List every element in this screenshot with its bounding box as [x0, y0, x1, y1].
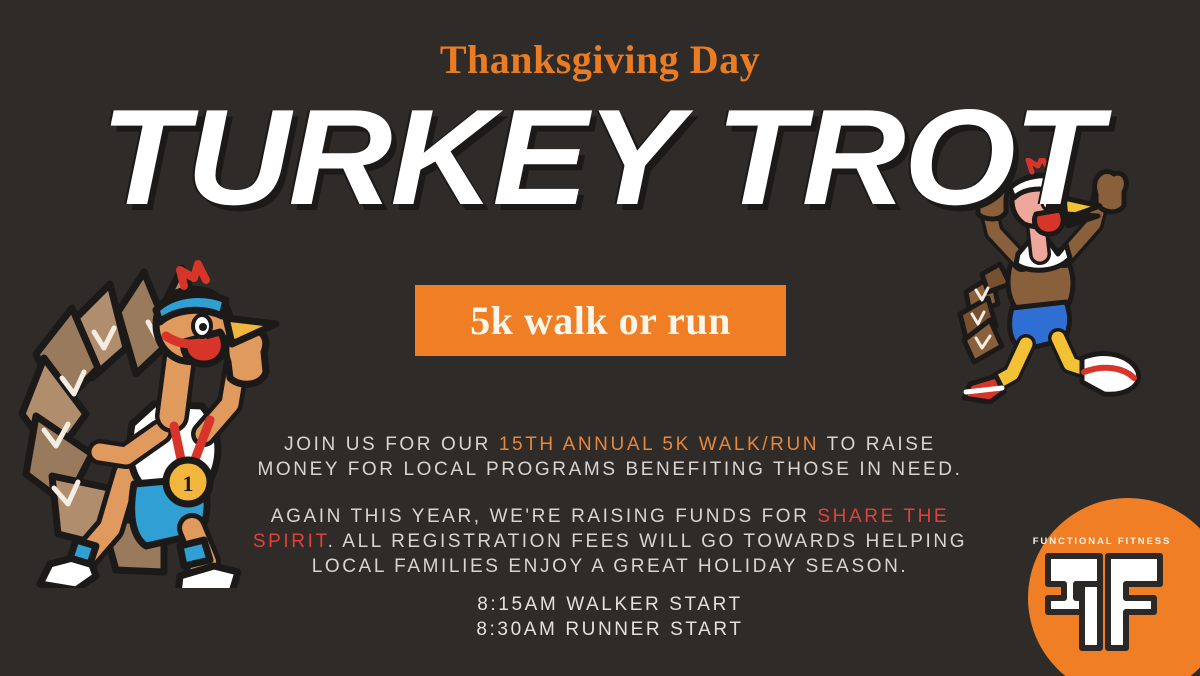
paragraph2-after: . ALL REGISTRATION FEES WILL GO TOWARDS …	[312, 531, 967, 577]
poster-canvas: 1	[0, 0, 1200, 676]
svg-text:1: 1	[183, 471, 194, 496]
event-type-label: 5k walk or run	[470, 297, 731, 344]
paragraph1-before: JOIN US FOR OUR	[284, 434, 499, 455]
walker-start-time: 8:15AM WALKER START	[240, 592, 980, 617]
description-paragraph-2: AGAIN THIS YEAR, WE'RE RAISING FUNDS FOR…	[240, 504, 980, 579]
event-type-banner: 5k walk or run	[415, 285, 786, 356]
schedule-block: 8:15AM WALKER START 8:30AM RUNNER START	[240, 592, 980, 642]
runner-start-time: 8:30AM RUNNER START	[240, 617, 980, 642]
paragraph2-before: AGAIN THIS YEAR, WE'RE RAISING FUNDS FOR	[271, 506, 818, 527]
functional-fitness-logo: FUNCTIONAL FITNESS	[1028, 498, 1200, 676]
description-paragraph-1: JOIN US FOR OUR 15TH ANNUAL 5K WALK/RUN …	[240, 432, 980, 482]
logo-wordmark: FUNCTIONAL FITNESS	[1028, 536, 1176, 547]
paragraph-spacer	[240, 482, 980, 504]
description-block: JOIN US FOR OUR 15TH ANNUAL 5K WALK/RUN …	[240, 432, 980, 579]
paragraph1-highlight: 15TH ANNUAL 5K WALK/RUN	[499, 434, 819, 455]
ff-monogram-icon	[1042, 550, 1166, 654]
page-title: TURKEY TROT	[0, 88, 1200, 227]
kicker-text: Thanksgiving Day	[0, 36, 1200, 83]
